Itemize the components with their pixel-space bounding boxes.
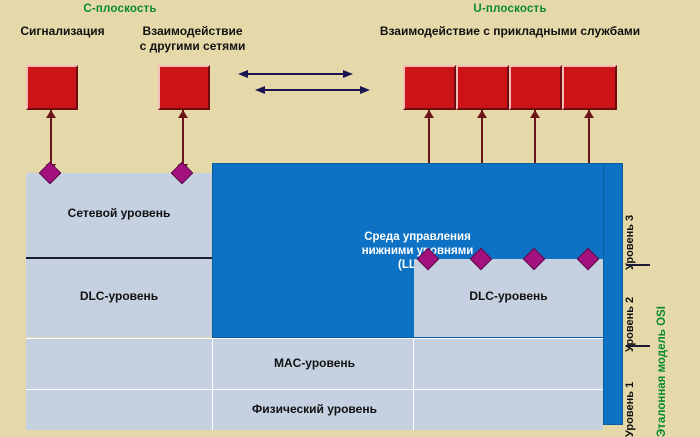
- layer-dlc-right-label: DLC-уровень: [414, 289, 603, 303]
- layer-network-label: Сетевой уровень: [26, 206, 212, 220]
- red-box-app-1[interactable]: [403, 65, 456, 110]
- layer-dlc-left-label: DLC-уровень: [26, 289, 212, 303]
- layer-physical-label: Физический уровень: [26, 402, 603, 416]
- red-box-signalling[interactable]: [26, 65, 78, 110]
- signalling-label: Сигнализация: [0, 24, 125, 39]
- llme-side-strip: [603, 163, 623, 425]
- llme-label-line2: нижними уровнями: [213, 244, 622, 258]
- layer-dlc-right[interactable]: DLC-уровень: [414, 259, 603, 337]
- diagram-canvas: C-плоскость U-плоскость Сигнализация Вза…: [0, 0, 700, 430]
- level-tick-2: [626, 345, 650, 347]
- divider-dlc-mac: [26, 338, 603, 339]
- arrowhead-up-icon: [424, 110, 434, 118]
- red-box-app-4[interactable]: [562, 65, 617, 110]
- arrowhead-up-icon: [530, 110, 540, 118]
- divider-mac-phy: [26, 389, 603, 390]
- arrow-shaft: [247, 73, 344, 75]
- layer-dlc-left[interactable]: DLC-уровень: [26, 259, 212, 337]
- internetwork-label-line2: с другими сетями: [120, 39, 265, 54]
- osi-level-1-label: Уровень 1: [624, 382, 636, 437]
- osi-level-2-label: Уровень 2: [624, 297, 636, 352]
- layer-mac-label: MAC-уровень: [26, 356, 603, 370]
- arrowhead-up-icon: [477, 110, 487, 118]
- layer-network[interactable]: Сетевой уровень: [26, 173, 212, 258]
- arrowhead-up-icon: [178, 110, 188, 118]
- app-services-label: Взаимодействие с прикладными службами: [345, 24, 675, 39]
- osi-level-3-label: Уровень 3: [624, 215, 636, 270]
- level-tick-3: [626, 264, 650, 266]
- llme-label-line1: Среда управления: [213, 230, 622, 244]
- bidirectional-arrow-lower: [255, 86, 370, 95]
- red-box-app-2[interactable]: [456, 65, 509, 110]
- u-plane-title: U-плоскость: [420, 3, 600, 15]
- arrowhead-up-icon: [584, 110, 594, 118]
- arrowhead-up-icon: [46, 110, 56, 118]
- internetwork-label-line1: Взаимодействие: [120, 24, 265, 39]
- arrow-shaft: [264, 89, 361, 91]
- divider-vertical-left: [212, 339, 213, 430]
- c-plane-title: C-плоскость: [30, 3, 210, 15]
- layer-physical[interactable]: Физический уровень: [26, 390, 603, 430]
- red-box-app-3[interactable]: [509, 65, 562, 110]
- red-box-internetwork[interactable]: [158, 65, 210, 110]
- osi-model-label: Эталонная модель OSI: [656, 306, 668, 437]
- layer-mac[interactable]: MAC-уровень: [26, 339, 603, 389]
- arrowhead-right-icon: [360, 86, 370, 94]
- bidirectional-arrow-upper: [238, 70, 353, 79]
- arrowhead-right-icon: [343, 70, 353, 78]
- divider-vertical-right: [413, 339, 414, 430]
